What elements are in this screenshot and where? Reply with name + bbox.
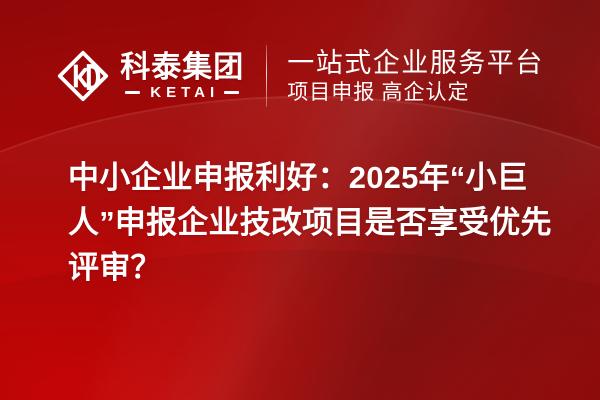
brand-lockup[interactable]: 科泰集团 KETAI [56, 49, 244, 103]
tagline-block: 一站式企业服务平台 项目申报 高企认定 [287, 49, 544, 102]
brand-name-en-row: KETAI [120, 85, 244, 100]
banner-header: 科泰集团 KETAI 一站式企业服务平台 项目申报 高企认定 [0, 34, 600, 118]
tagline-primary: 一站式企业服务平台 [287, 49, 544, 77]
ketai-logo-icon [56, 49, 110, 103]
promo-banner: 科泰集团 KETAI 一站式企业服务平台 项目申报 高企认定 中小企业申报利好：… [0, 0, 600, 400]
brand-name-cn: 科泰集团 [120, 53, 244, 83]
header-divider [266, 45, 267, 107]
tagline-secondary: 项目申报 高企认定 [287, 81, 544, 103]
dash-left-decoration [125, 91, 140, 94]
brand-name-en: KETAI [145, 85, 219, 100]
brand-wordmark: 科泰集团 KETAI [120, 53, 244, 100]
dash-right-decoration [224, 91, 239, 94]
page-title: 中小企业申报利好：2025年“小巨人”申报企业技改项目是否享受优先评审？ [68, 156, 558, 291]
